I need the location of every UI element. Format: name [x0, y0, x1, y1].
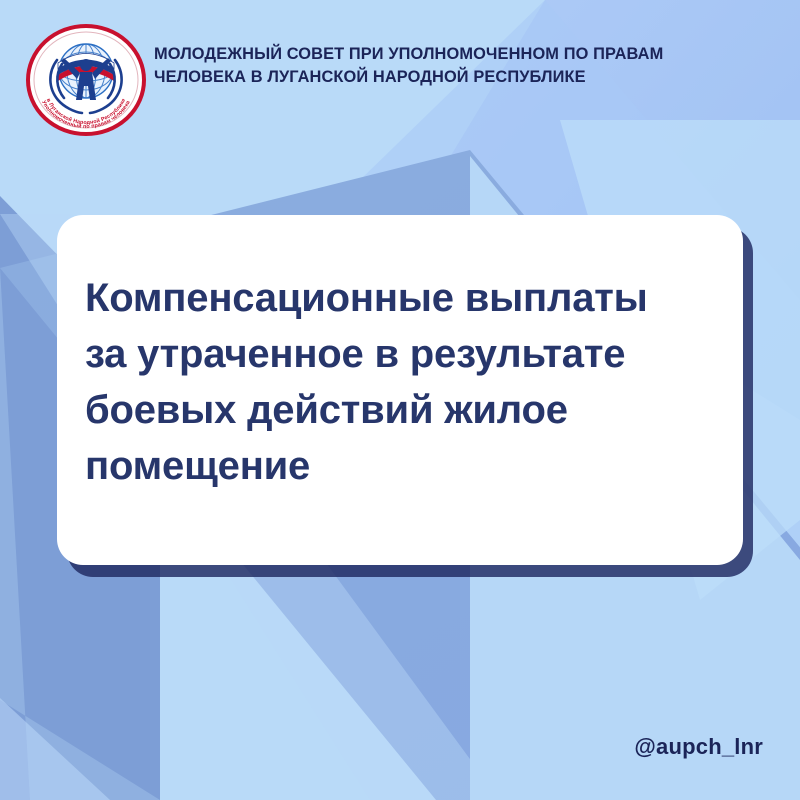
- organization-header-line-1: МОЛОДЕЖНЫЙ СОВЕТ ПРИ УПОЛНОМОЧЕННОМ ПО П…: [154, 43, 774, 66]
- card-title-line-1: Компенсационные выплаты: [85, 270, 719, 326]
- organization-header: МОЛОДЕЖНЫЙ СОВЕТ ПРИ УПОЛНОМОЧЕННОМ ПО П…: [154, 43, 774, 88]
- card-title-line-2: за утраченное в результате: [85, 326, 719, 382]
- ombudsman-logo-icon: Уполномоченный по правам человека в Луга…: [24, 22, 148, 138]
- card-title-line-4: помещение: [85, 438, 719, 494]
- card-title-line-3: боевых действий жилое: [85, 382, 719, 438]
- organization-header-line-2: ЧЕЛОВЕКА В ЛУГАНСКОЙ НАРОДНОЙ РЕСПУБЛИКЕ: [154, 66, 774, 89]
- content-card: Компенсационные выплаты за утраченное в …: [57, 215, 743, 565]
- social-handle: @aupch_lnr: [634, 734, 763, 760]
- poster-canvas: Уполномоченный по правам человека в Луга…: [0, 0, 800, 800]
- card-title: Компенсационные выплаты за утраченное в …: [85, 270, 719, 494]
